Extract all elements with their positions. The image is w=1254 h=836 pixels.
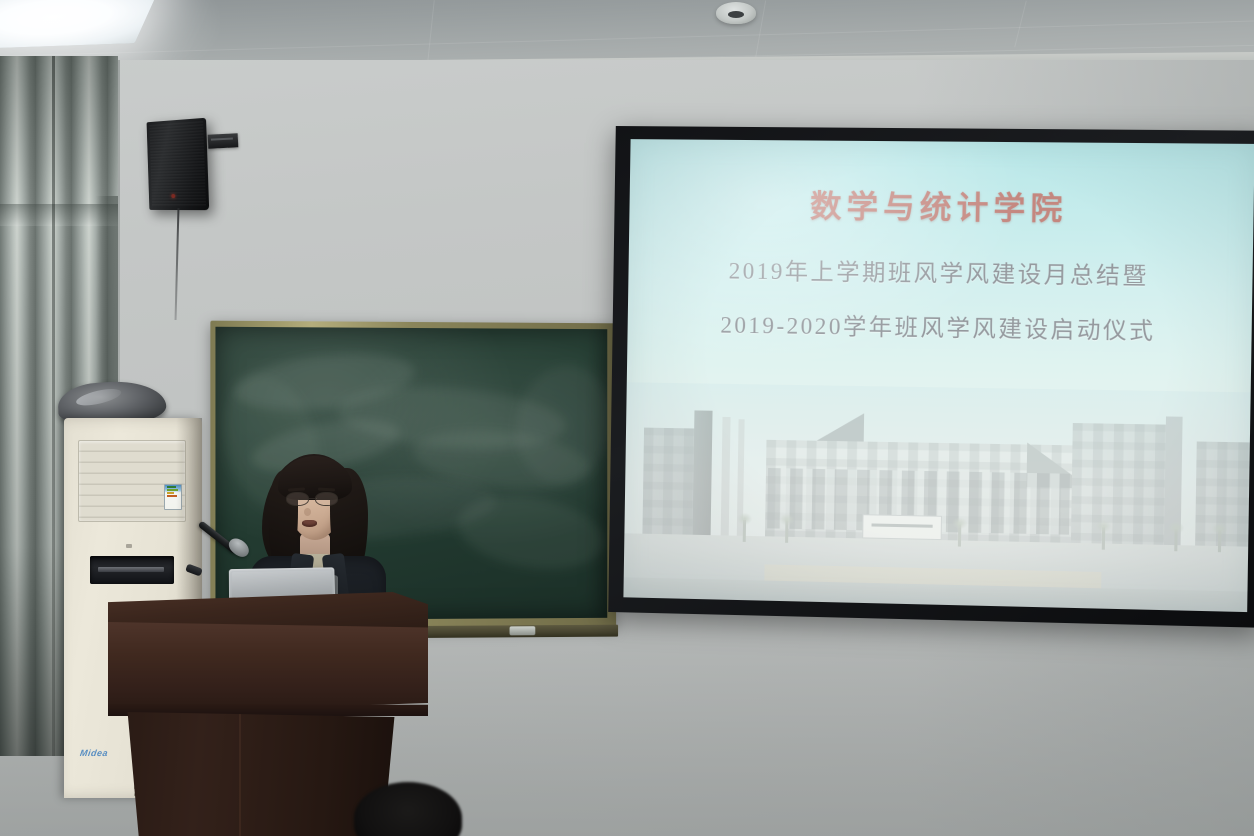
wall-speaker-icon — [147, 118, 210, 210]
podium-front-panel — [108, 622, 428, 714]
speaker-power-led — [171, 194, 175, 198]
ceiling-light-panel — [0, 0, 160, 49]
photo-tree — [785, 521, 788, 543]
photo-building — [642, 428, 694, 535]
vent-louver — [98, 567, 164, 572]
ceiling-seam — [0, 20, 1254, 56]
slide-title: 数学与统计学院 — [629, 179, 1254, 231]
ceiling-seam — [755, 0, 766, 59]
ceiling-seam — [1014, 1, 1027, 48]
speaker-mount-bracket — [208, 133, 239, 149]
air-conditioner-brand-label: Midea — [79, 748, 108, 758]
slide-subtitle-line-1: 2019年上学期班风学风建设月总结暨 — [628, 250, 1253, 292]
glasses-lens — [315, 492, 338, 506]
presenter-mouth — [302, 520, 317, 527]
chalkboard-eraser — [510, 626, 536, 635]
slide-text-block: 数学与统计学院 2019年上学期班风学风建设月总结暨 2019-2020学年班风… — [627, 179, 1254, 347]
slide-subtitle-line-2: 2019-2020学年班风学风建设启动仪式 — [627, 304, 1251, 347]
air-conditioner-vent — [90, 556, 174, 584]
photo-tree — [1218, 530, 1221, 553]
smoke-detector-icon — [716, 2, 756, 24]
projected-slide: 数学与统计学院 2019年上学期班风学风建设月总结暨 2019-2020学年班风… — [623, 139, 1254, 612]
photo-windows — [1071, 423, 1172, 545]
photo-tree — [1102, 527, 1105, 549]
photo-signboard — [862, 514, 942, 540]
projection-screen-frame: 数学与统计学院 2019年上学期班风学风建设月总结暨 2019-2020学年班风… — [608, 126, 1254, 628]
speaker-grille — [149, 121, 206, 207]
photo-tree — [958, 524, 961, 546]
photo-building — [693, 410, 713, 535]
photo-tree — [1174, 529, 1177, 551]
lecture-hall-photo: Midea — [0, 0, 1254, 836]
slide-campus-photo — [623, 382, 1250, 612]
projection-screen: 数学与统计学院 2019年上学期班风学风建设月总结暨 2019-2020学年班风… — [608, 126, 1254, 628]
podium-top-surface — [108, 592, 428, 628]
photo-building — [1071, 423, 1172, 545]
air-conditioner-indicator — [126, 544, 132, 548]
glasses-lens — [286, 492, 309, 506]
podium — [108, 592, 428, 836]
presenter-nose — [304, 508, 311, 516]
photo-tree — [743, 520, 746, 542]
photo-windows — [642, 428, 694, 535]
glasses-icon — [286, 492, 342, 506]
